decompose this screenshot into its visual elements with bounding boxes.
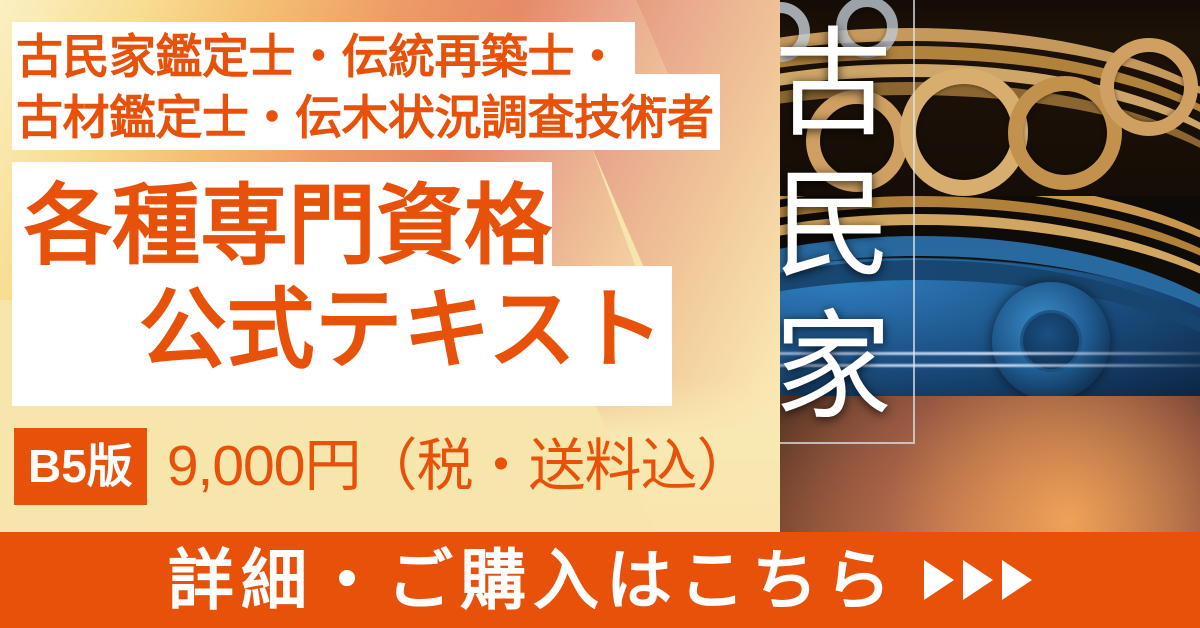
cta-label: 詳細・ご購入はこちら: [168, 547, 898, 613]
cta-button[interactable]: 詳細・ご購入はこちら: [0, 532, 1200, 628]
format-badge: B5版: [14, 428, 147, 505]
cta-arrows: [924, 560, 1032, 600]
cover-title: 古 民 家: [760, 0, 906, 452]
play-arrow-icon: [924, 560, 954, 600]
headline-text: 古民家鑑定士・伝統再築士・ 古材鑑定士・伝木状況調査技術者: [16, 26, 716, 148]
promo-banner: 古 民 家 伝統構法 古民家活用のための調査と再生の 古民家鑑定士・伝統再築士・…: [0, 0, 1200, 628]
price-text: 9,000円（税・送料込）: [167, 438, 753, 495]
title-line-1: 各種専門資格: [24, 182, 552, 270]
price-row: B5版 9,000円（税・送料込）: [14, 428, 752, 505]
family-crest-medallion: [992, 282, 1110, 396]
play-arrow-icon: [1002, 560, 1032, 600]
title-line-2: 公式テキスト: [24, 286, 664, 374]
play-arrow-icon: [963, 560, 993, 600]
